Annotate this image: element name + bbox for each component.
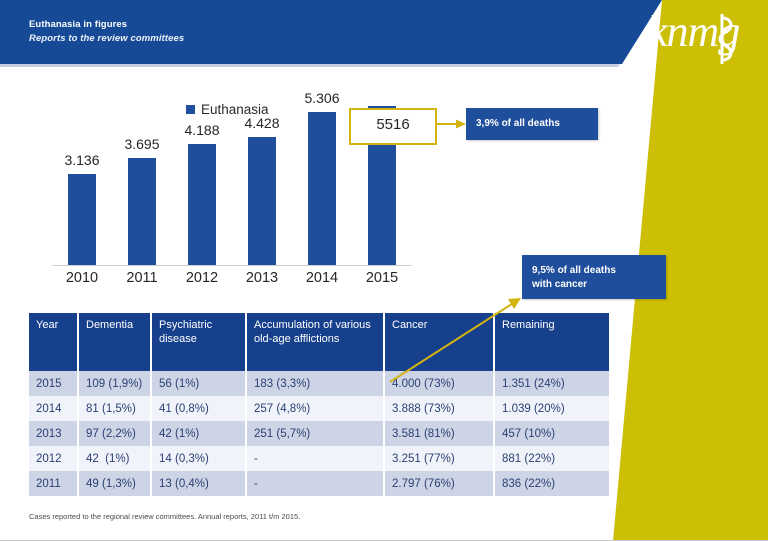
xtick-2012: 2012 bbox=[172, 270, 232, 286]
col-header-accumulation: Accumulation of various old-age afflicti… bbox=[247, 313, 385, 371]
table-row: 2015 109 (1,9%) 56 (1%) 183 (3,3%) 4.000… bbox=[29, 371, 609, 396]
cell-accumulation: - bbox=[247, 446, 385, 471]
cell-remaining: 836 (22%) bbox=[495, 471, 609, 496]
cell-cancer: 3.251 (77%) bbox=[385, 446, 495, 471]
cell-remaining: 1.351 (24%) bbox=[495, 371, 609, 396]
cell-year: 2015 bbox=[29, 371, 79, 396]
bar-value-2013: 4.428 bbox=[232, 115, 292, 131]
bar-2014 bbox=[308, 112, 336, 265]
euthanasia-causes-table: Year Dementia Psychiatric disease Accumu… bbox=[29, 313, 609, 496]
highlighted-value-2015: 5516 bbox=[349, 108, 437, 145]
cell-cancer: 2.797 (76%) bbox=[385, 471, 495, 496]
col-header-year: Year bbox=[29, 313, 79, 371]
bar-2013 bbox=[248, 137, 276, 265]
cell-psychiatric: 42 (1%) bbox=[152, 421, 247, 446]
cell-dementia: 81 (1,5%) bbox=[79, 396, 152, 421]
highlighted-value-text: 5516 bbox=[351, 110, 435, 139]
col-header-cancer: Cancer bbox=[385, 313, 495, 371]
table-header-row: Year Dementia Psychiatric disease Accumu… bbox=[29, 313, 609, 371]
xtick-2010: 2010 bbox=[52, 270, 112, 286]
slide-canvas: Euthanasia in figures Reports to the rev… bbox=[0, 0, 768, 541]
cell-psychiatric: 56 (1%) bbox=[152, 371, 247, 396]
bar-2011 bbox=[128, 158, 156, 265]
cell-psychiatric: 14 (0,3%) bbox=[152, 446, 247, 471]
bar-value-2012: 4.188 bbox=[172, 122, 232, 138]
cell-year: 2012 bbox=[29, 446, 79, 471]
callout-cancer-share-line1: 9,5% of all deaths bbox=[532, 265, 616, 276]
cell-psychiatric: 41 (0,8%) bbox=[152, 396, 247, 421]
table-row: 2014 81 (1,5%) 41 (0,8%) 257 (4,8%) 3.88… bbox=[29, 396, 609, 421]
cell-accumulation: 251 (5,7%) bbox=[247, 421, 385, 446]
cell-dementia: 109 (1,9%) bbox=[79, 371, 152, 396]
callout-deaths-share-text: 3,9% of all deaths bbox=[476, 118, 560, 129]
bar-value-2011: 3.695 bbox=[112, 136, 172, 152]
cell-year: 2013 bbox=[29, 421, 79, 446]
callout-cancer-share-line2: with cancer bbox=[532, 279, 587, 290]
bar-value-2014: 5.306 bbox=[292, 90, 352, 106]
table-row: 2012 42 (1%) 14 (0,3%) - 3.251 (77%) 881… bbox=[29, 446, 609, 471]
cell-accumulation: 257 (4,8%) bbox=[247, 396, 385, 421]
cell-dementia: 97 (2,2%) bbox=[79, 421, 152, 446]
xtick-2013: 2013 bbox=[232, 270, 292, 286]
table-row: 2011 49 (1,3%) 13 (0,4%) - 2.797 (76%) 8… bbox=[29, 471, 609, 496]
page-title: Euthanasia in figures bbox=[29, 19, 127, 30]
cell-dementia: 42 (1%) bbox=[79, 446, 152, 471]
cell-year: 2011 bbox=[29, 471, 79, 496]
cell-accumulation: - bbox=[247, 471, 385, 496]
chart-axis-line bbox=[52, 265, 412, 266]
bar-value-2010: 3.136 bbox=[52, 152, 112, 168]
page-subtitle: Reports to the review committees bbox=[29, 33, 184, 44]
cell-remaining: 881 (22%) bbox=[495, 446, 609, 471]
table-row: 2013 97 (2,2%) 42 (1%) 251 (5,7%) 3.581 … bbox=[29, 421, 609, 446]
cell-cancer: 3.581 (81%) bbox=[385, 421, 495, 446]
bar-2012 bbox=[188, 144, 216, 265]
col-header-dementia: Dementia bbox=[79, 313, 152, 371]
cell-remaining: 1.039 (20%) bbox=[495, 396, 609, 421]
xtick-2011: 2011 bbox=[112, 270, 172, 286]
cell-cancer: 3.888 (73%) bbox=[385, 396, 495, 421]
cell-year: 2014 bbox=[29, 396, 79, 421]
cell-cancer: 4.000 (73%) bbox=[385, 371, 495, 396]
bar-2010 bbox=[68, 174, 96, 265]
cell-psychiatric: 13 (0,4%) bbox=[152, 471, 247, 496]
xtick-2015: 2015 bbox=[352, 270, 412, 286]
table-footnote: Cases reported to the regional review co… bbox=[29, 512, 300, 521]
cell-dementia: 49 (1,3%) bbox=[79, 471, 152, 496]
col-header-remaining: Remaining bbox=[495, 313, 609, 371]
cell-remaining: 457 (10%) bbox=[495, 421, 609, 446]
col-header-psychiatric: Psychiatric disease bbox=[152, 313, 247, 371]
aesculapius-staff-icon bbox=[648, 8, 758, 64]
legend-swatch-euthanasia bbox=[186, 105, 195, 114]
xtick-2014: 2014 bbox=[292, 270, 352, 286]
callout-deaths-share: 3,9% of all deaths bbox=[466, 108, 598, 140]
knmg-logo: knmg bbox=[648, 8, 758, 64]
callout-cancer-share: 9,5% of all deaths with cancer bbox=[522, 255, 666, 299]
cell-accumulation: 183 (3,3%) bbox=[247, 371, 385, 396]
